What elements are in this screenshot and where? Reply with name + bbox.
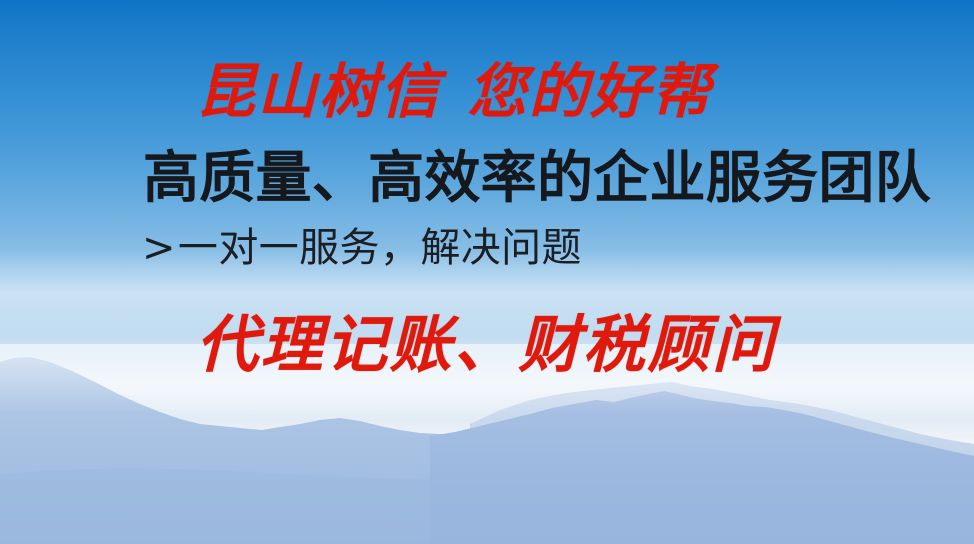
headline-slogan-text: 您的好帮: [467, 57, 712, 126]
promotional-banner: 昆山树信您的好帮 高质量、高效率的企业服务团队 >一对一服务，解决问题 代理记账…: [0, 0, 974, 544]
headline-company-slogan: 昆山树信您的好帮: [196, 62, 713, 121]
tagline-secondary-row: >一对一服务，解决问题: [142, 228, 582, 268]
services-headline: 代理记账、财税顾问: [196, 314, 776, 376]
headline-company-name: 昆山树信: [196, 57, 441, 126]
tagline-secondary-text: 一对一服务，解决问题: [178, 225, 582, 271]
bullet-chevron-icon: >: [142, 225, 176, 271]
tagline-primary: 高质量、高效率的企业服务团队: [143, 150, 931, 206]
